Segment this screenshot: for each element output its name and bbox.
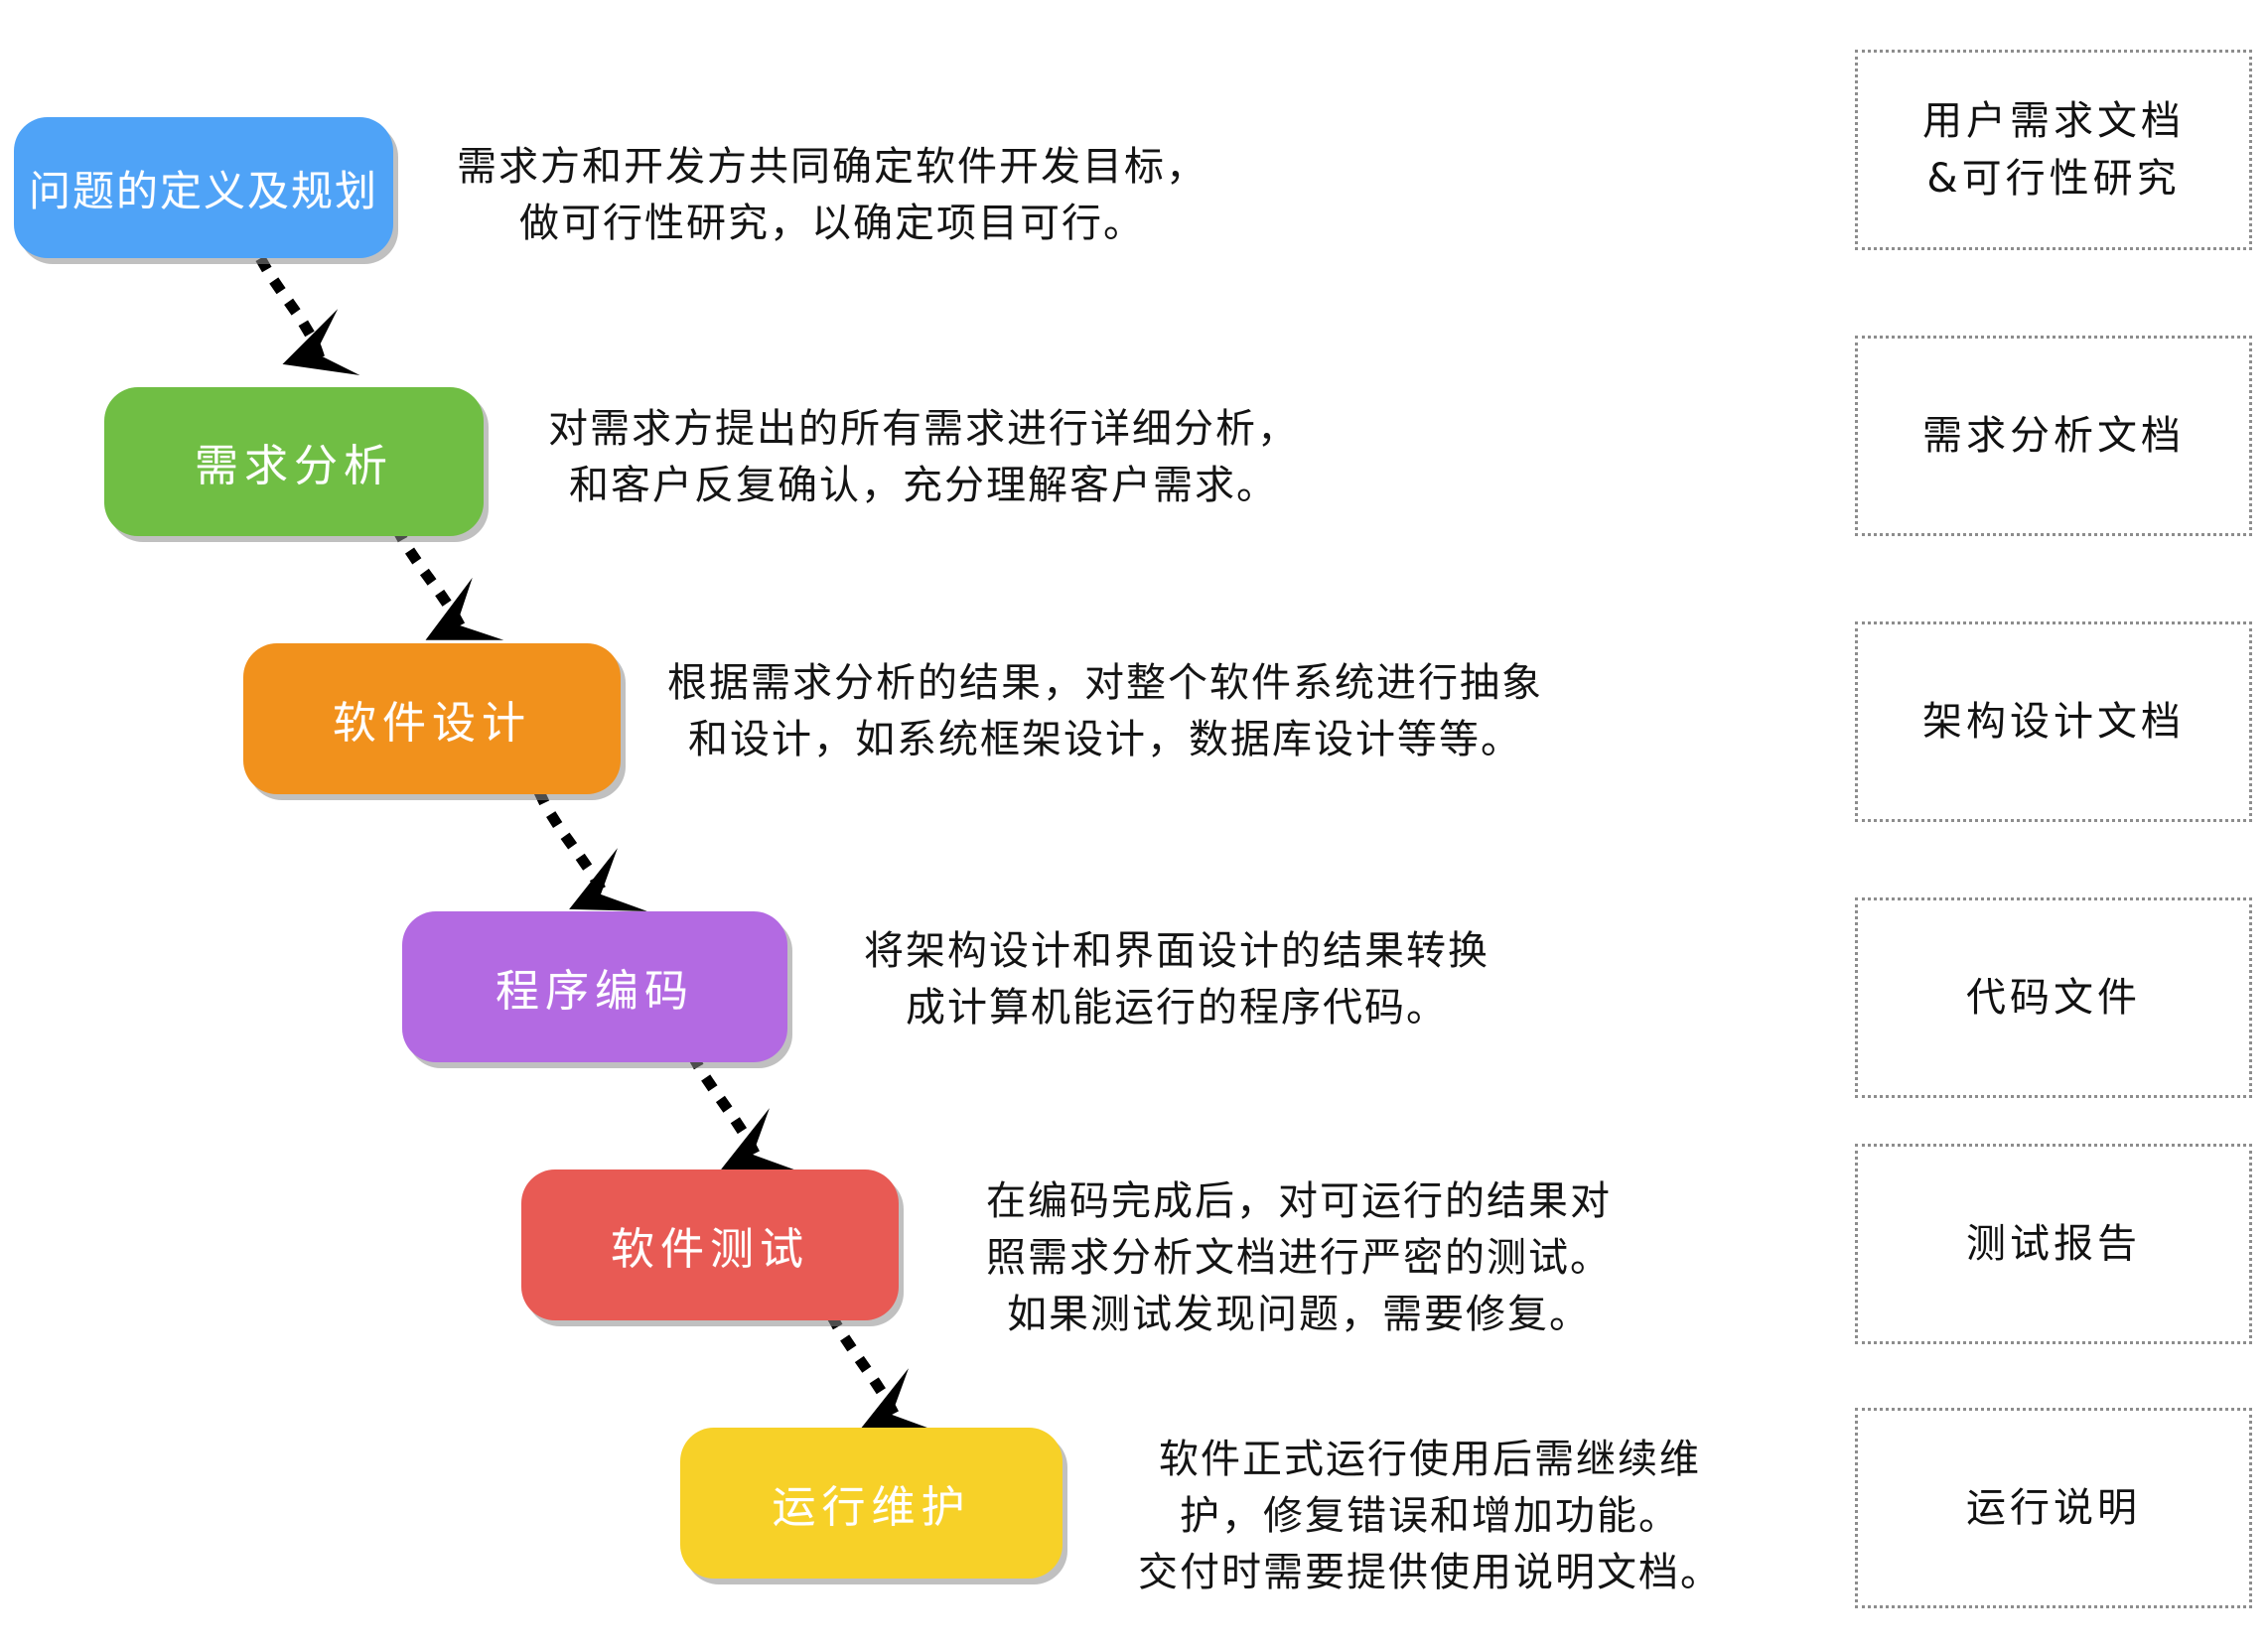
stage-description-4: 将架构设计和界面设计的结果转换 成计算机能运行的程序代码。 (799, 923, 1554, 1036)
deliverable-box-requirements-analysis[interactable]: 需求分析文档 (1855, 336, 2252, 536)
stage-description-6: 软件正式运行使用后需继续维 护，修复错误和增加功能。 交付时需要提供使用说明文档… (1082, 1432, 1777, 1600)
stage-box-operation-maintenance[interactable]: 运行维护 (680, 1428, 1063, 1579)
deliverable-box-code-files[interactable]: 代码文件 (1855, 897, 2252, 1098)
diagram-canvas: 问题的定义及规划 需求方和开发方共同确定软件开发目标， 做可行性研究，以确定项目… (0, 0, 2268, 1651)
stage-box-requirements-analysis[interactable]: 需求分析 (104, 387, 484, 536)
deliverable-box-operation-manual[interactable]: 运行说明 (1855, 1408, 2252, 1608)
stage-description-5: 在编码完成后，对可运行的结果对 照需求分析文档进行严密的测试。 如果测试发现问题… (921, 1173, 1676, 1342)
deliverable-box-user-requirements[interactable]: 用户需求文档 &可行性研究 (1855, 50, 2252, 250)
stage-label-5: 软件测试 (611, 1213, 809, 1277)
connector-4-to-5 (695, 1060, 755, 1154)
stage-box-software-testing[interactable]: 软件测试 (521, 1169, 899, 1320)
stage-label-2: 需求分析 (195, 430, 393, 493)
deliverable-box-test-report[interactable]: 测试报告 (1855, 1144, 2252, 1344)
connector-5-to-6 (834, 1320, 894, 1414)
stage-box-software-design[interactable]: 软件设计 (243, 643, 621, 794)
connector-3-to-4 (541, 796, 603, 894)
connector-2-to-3 (399, 533, 459, 623)
stage-box-program-coding[interactable]: 程序编码 (402, 911, 787, 1062)
stage-label-1: 问题的定义及规划 (29, 158, 378, 218)
stage-description-1: 需求方和开发方共同确定软件开发目标， 做可行性研究，以确定项目可行。 (415, 139, 1249, 252)
stage-description-2: 对需求方提出的所有需求进行详细分析， 和客户反复确认，充分理解客户需求。 (506, 401, 1341, 514)
stage-description-3: 根据需求分析的结果，对整个软件系统进行抽象 和设计，如系统框架设计，数据库设计等… (643, 655, 1567, 768)
stage-label-6: 运行维护 (773, 1471, 971, 1535)
stage-label-4: 程序编码 (496, 955, 694, 1019)
deliverable-box-architecture-design[interactable]: 架构设计文档 (1855, 621, 2252, 822)
connector-1-to-2 (263, 263, 318, 352)
stage-box-problem-definition[interactable]: 问题的定义及规划 (14, 117, 393, 258)
stage-label-3: 软件设计 (333, 687, 531, 751)
